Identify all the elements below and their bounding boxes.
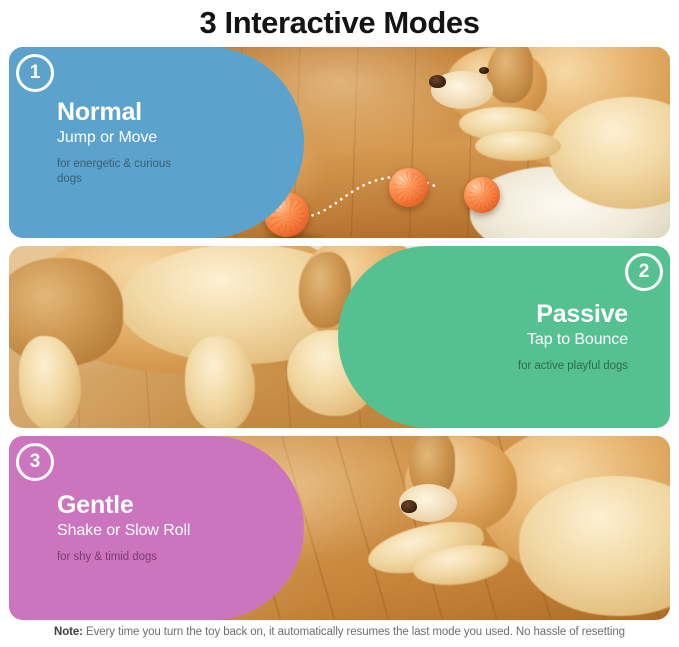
mode-name: Normal: [57, 98, 288, 126]
mode-action: Shake or Slow Roll: [57, 520, 288, 541]
toy-ball: [464, 177, 500, 213]
mode-audience: for shy & timid dogs: [57, 550, 193, 565]
mode-panel-normal: Normal Jump or Move for energetic & curi…: [9, 47, 670, 238]
mode-badge-1: 1: [16, 54, 54, 92]
mode-badge-3: 3: [16, 443, 54, 481]
footer-note-text: Every time you turn the toy back on, it …: [86, 626, 625, 638]
mode-panel-gentle: Gentle Shake or Slow Roll for shy & timi…: [9, 436, 670, 620]
mode-badge-2: 2: [625, 253, 663, 291]
mode-audience: for energetic & curious dogs: [57, 157, 193, 187]
footer-note-label: Note:: [54, 626, 83, 638]
mode-panel-passive: Passive Tap to Bounce for active playful…: [9, 246, 670, 428]
footer-note: Note: Every time you turn the toy back o…: [0, 624, 679, 641]
mode-name: Gentle: [57, 491, 288, 519]
mode-action: Jump or Move: [57, 127, 288, 148]
page-title: 3 Interactive Modes: [0, 0, 679, 44]
mode-action: Tap to Bounce: [527, 329, 628, 350]
toy-ball: [389, 168, 428, 207]
mode-name: Passive: [536, 300, 628, 328]
mode-card-passive: Passive Tap to Bounce for active playful…: [338, 246, 670, 428]
mode-audience: for active playful dogs: [518, 359, 628, 374]
